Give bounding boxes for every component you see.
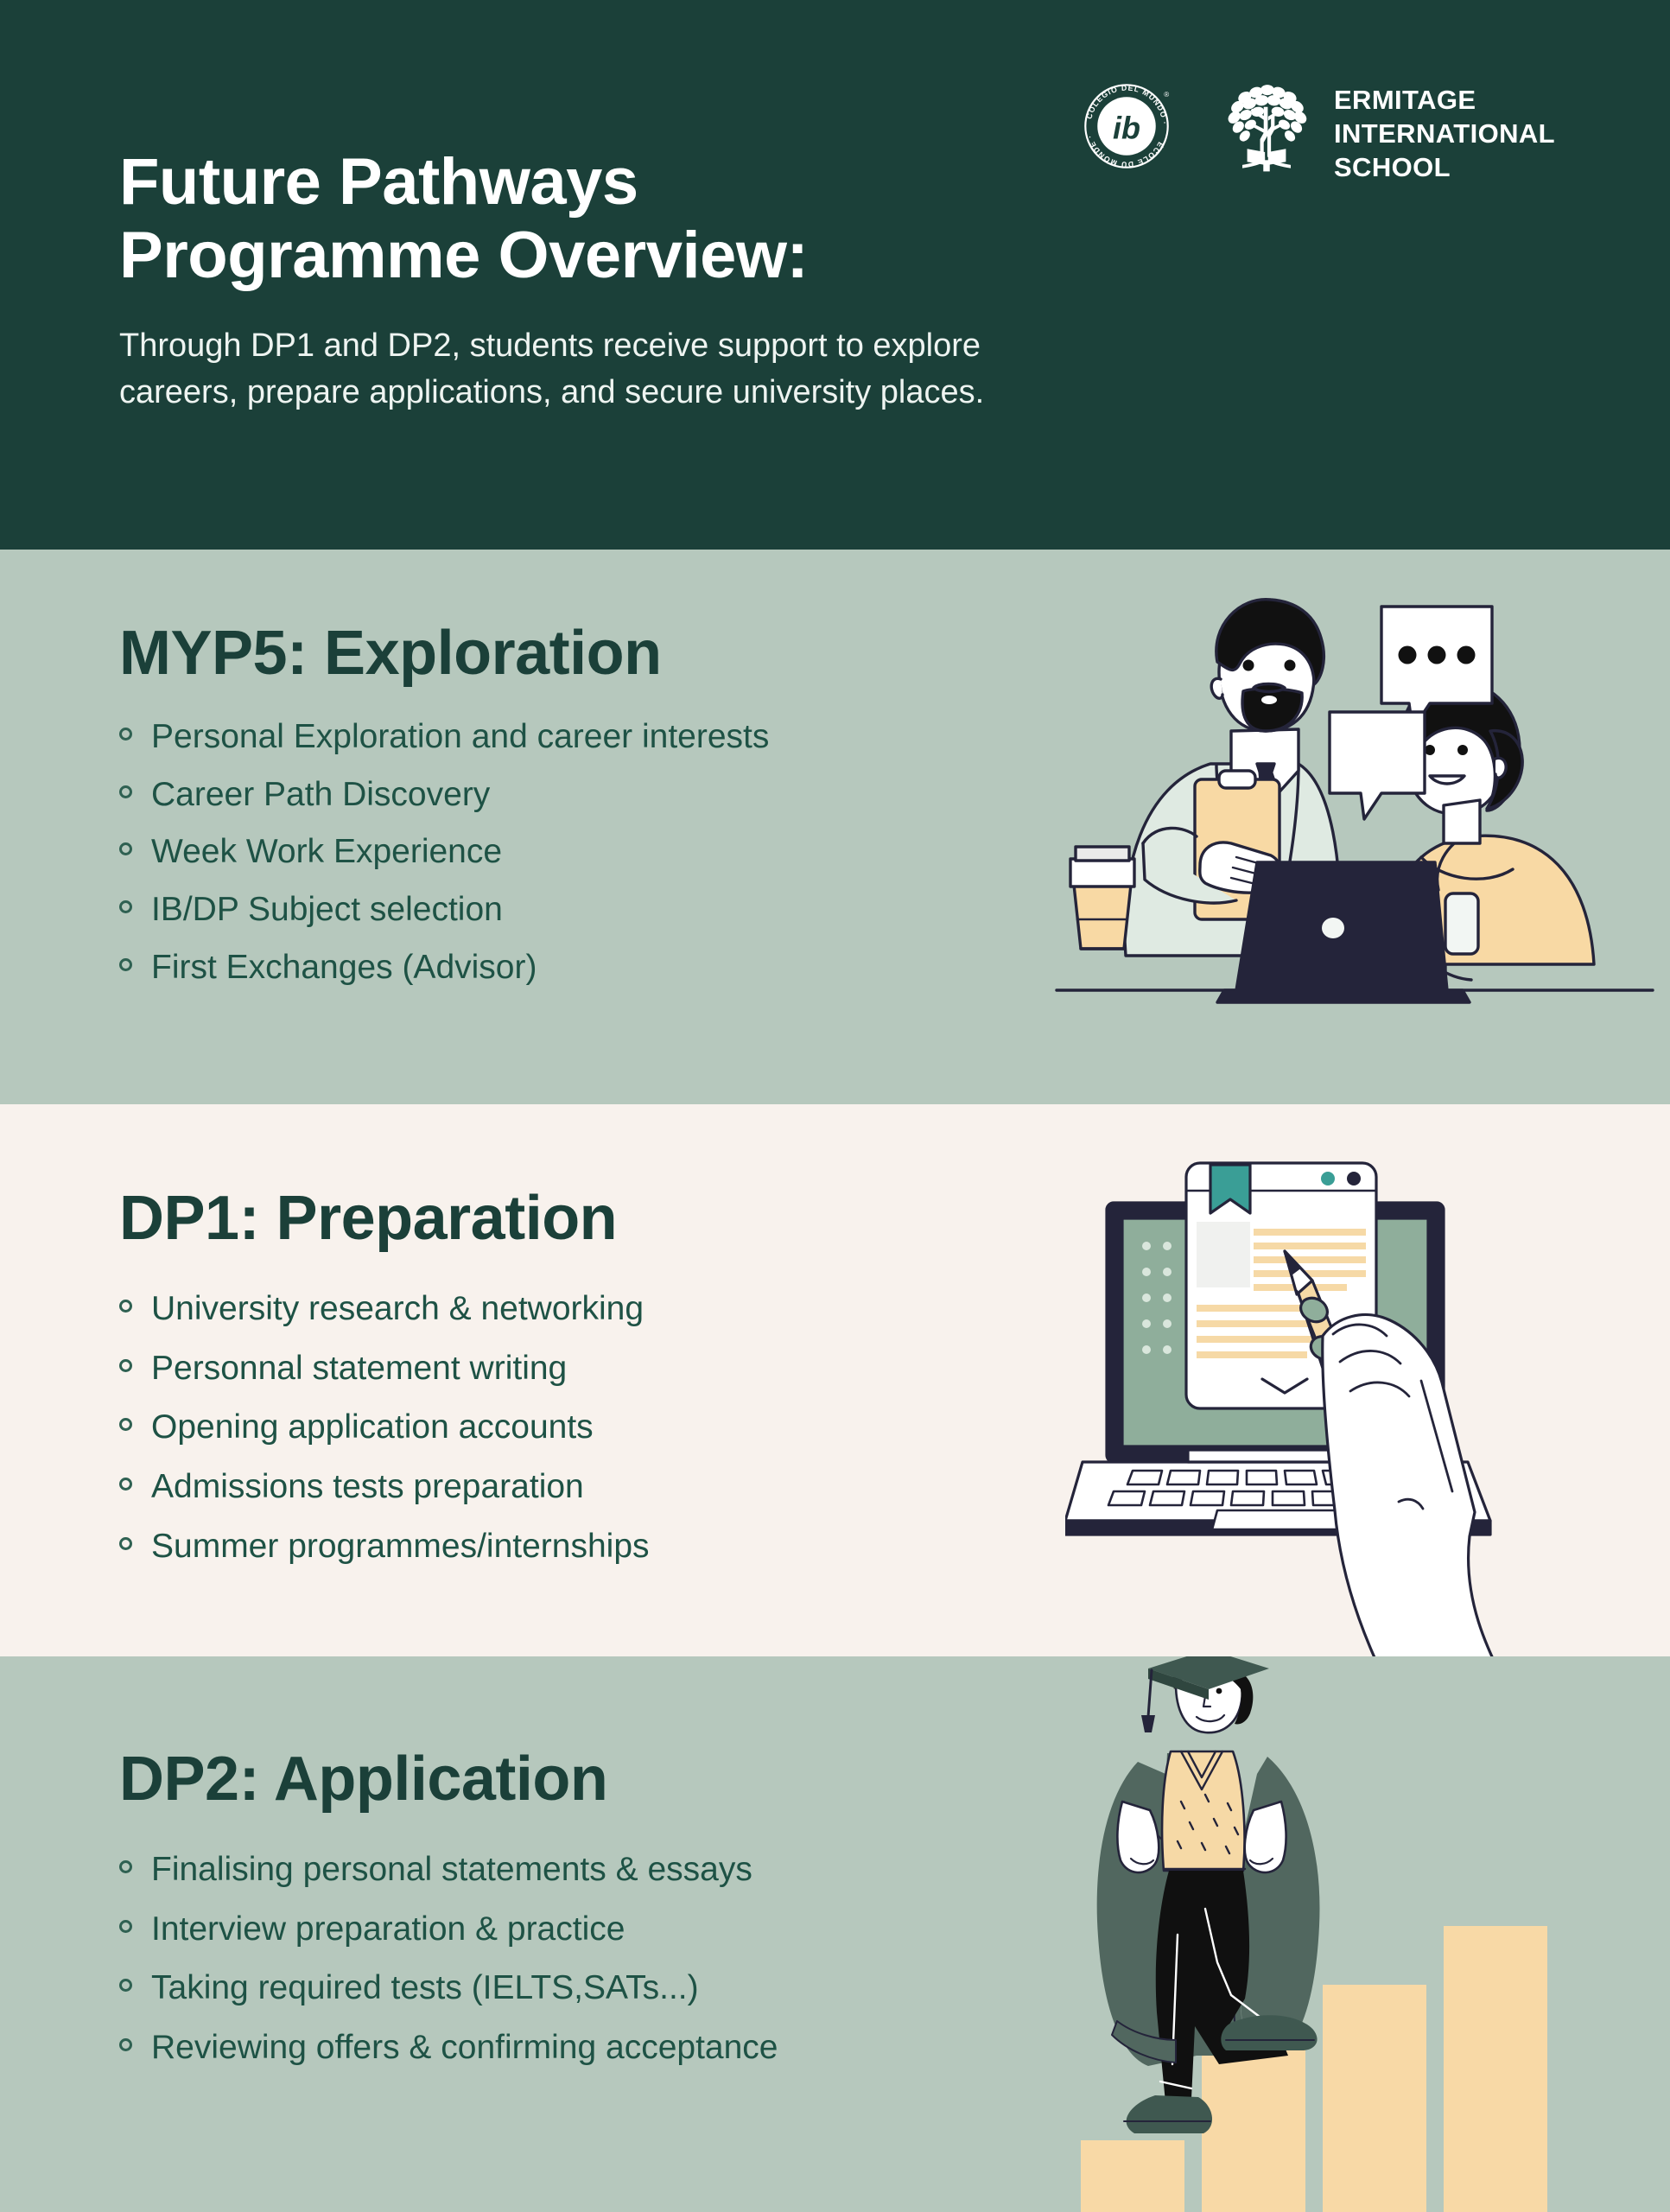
school-name-line-1: ERMITAGE bbox=[1334, 83, 1555, 117]
bullet-circle-icon bbox=[119, 1359, 132, 1372]
list-item: Week Work Experience bbox=[119, 834, 769, 870]
list-item: Finalising personal statements & essays bbox=[119, 1852, 778, 1888]
section-myp5: MYP5: Exploration Personal Exploration a… bbox=[0, 550, 1670, 1104]
page-subtitle: Through DP1 and DP2, students receive su… bbox=[119, 323, 1087, 416]
list-item-label: Summer programmes/internships bbox=[151, 1529, 650, 1565]
bullet-circle-icon bbox=[119, 1478, 132, 1491]
list-item-label: First Exchanges (Advisor) bbox=[151, 950, 537, 986]
svg-text:ib: ib bbox=[1113, 110, 1140, 145]
list-item-label: Personnal statement writing bbox=[151, 1351, 567, 1387]
ib-world-school-icon: COLEGIO DEL MUNDO · WORLD SCHOOL · ÉCOLE… bbox=[1080, 79, 1173, 173]
list-item-label: Finalising personal statements & essays bbox=[151, 1852, 752, 1888]
advisor-and-student-with-laptop-illustration bbox=[1039, 558, 1670, 1104]
header-banner: Future Pathways Programme Overview: Thro… bbox=[0, 0, 1670, 550]
logo-group: COLEGIO DEL MUNDO · WORLD SCHOOL · ÉCOLE… bbox=[1080, 79, 1555, 184]
section-dp1: DP1: Preparation University research & n… bbox=[0, 1104, 1670, 1656]
section-title-dp2: DP2: Application bbox=[119, 1748, 778, 1810]
svg-text:®: ® bbox=[1164, 91, 1169, 99]
bullet-circle-icon bbox=[119, 785, 132, 798]
section-title-dp1: DP1: Preparation bbox=[119, 1187, 650, 1249]
school-name-line-3: SCHOOL bbox=[1334, 150, 1555, 184]
bullet-circle-icon bbox=[119, 958, 132, 971]
list-item: Interview preparation & practice bbox=[119, 1911, 778, 1948]
bullet-circle-icon bbox=[119, 1537, 132, 1550]
bullet-circle-icon bbox=[119, 1300, 132, 1313]
bullet-circle-icon bbox=[119, 1920, 132, 1933]
graduate-climbing-bar-chart-illustration bbox=[1074, 1656, 1670, 2212]
infographic-poster: Future Pathways Programme Overview: Thro… bbox=[0, 0, 1670, 2212]
list-item-label: University research & networking bbox=[151, 1291, 644, 1327]
header-text-block: Future Pathways Programme Overview: Thro… bbox=[119, 145, 1087, 416]
list-item-label: Personal Exploration and career interest… bbox=[151, 719, 769, 755]
page-subtitle-line-2: careers, prepare applications, and secur… bbox=[119, 370, 1087, 416]
list-item-label: Taking required tests (IELTS,SATs...) bbox=[151, 1970, 699, 2006]
dp1-bullet-list: University research & networking Personn… bbox=[119, 1291, 650, 1565]
myp5-bullet-list: Personal Exploration and career interest… bbox=[119, 719, 769, 986]
list-item: First Exchanges (Advisor) bbox=[119, 950, 769, 986]
bullet-circle-icon bbox=[119, 900, 132, 913]
bullet-circle-icon bbox=[119, 1418, 132, 1431]
list-item: University research & networking bbox=[119, 1291, 650, 1327]
school-logo: ERMITAGE INTERNATIONAL SCHOOL bbox=[1218, 79, 1555, 184]
list-item: Summer programmes/internships bbox=[119, 1529, 650, 1565]
bullet-circle-icon bbox=[119, 1979, 132, 1992]
list-item-label: Opening application accounts bbox=[151, 1409, 594, 1446]
list-item-label: Week Work Experience bbox=[151, 834, 502, 870]
page-title-line-2: Programme Overview: bbox=[119, 219, 1087, 292]
list-item-label: Reviewing offers & confirming acceptance bbox=[151, 2030, 778, 2066]
bullet-circle-icon bbox=[119, 1860, 132, 1873]
list-item: Admissions tests preparation bbox=[119, 1469, 650, 1505]
list-item: Career Path Discovery bbox=[119, 777, 769, 813]
myp5-text-block: MYP5: Exploration Personal Exploration a… bbox=[119, 622, 769, 1007]
page-subtitle-line-1: Through DP1 and DP2, students receive su… bbox=[119, 323, 1087, 370]
list-item-label: Admissions tests preparation bbox=[151, 1469, 584, 1505]
list-item: Taking required tests (IELTS,SATs...) bbox=[119, 1970, 778, 2006]
school-name: ERMITAGE INTERNATIONAL SCHOOL bbox=[1334, 79, 1555, 184]
bullet-circle-icon bbox=[119, 842, 132, 855]
list-item-label: Career Path Discovery bbox=[151, 777, 490, 813]
school-name-line-2: INTERNATIONAL bbox=[1334, 117, 1555, 150]
list-item: IB/DP Subject selection bbox=[119, 892, 769, 928]
dp2-bullet-list: Finalising personal statements & essays … bbox=[119, 1852, 778, 2066]
dp2-text-block: DP2: Application Finalising personal sta… bbox=[119, 1748, 778, 2089]
tree-icon bbox=[1218, 79, 1315, 176]
list-item: Opening application accounts bbox=[119, 1409, 650, 1446]
bullet-circle-icon bbox=[119, 2038, 132, 2051]
dp1-text-block: DP1: Preparation University research & n… bbox=[119, 1187, 650, 1588]
list-item: Personnal statement writing bbox=[119, 1351, 650, 1387]
list-item-label: IB/DP Subject selection bbox=[151, 892, 503, 928]
section-title-myp5: MYP5: Exploration bbox=[119, 622, 769, 684]
hand-with-pencil-over-laptop-illustration bbox=[1065, 1130, 1670, 1656]
page-title-line-1: Future Pathways bbox=[119, 145, 1087, 219]
list-item-label: Interview preparation & practice bbox=[151, 1911, 625, 1948]
section-dp2: DP2: Application Finalising personal sta… bbox=[0, 1656, 1670, 2212]
bullet-circle-icon bbox=[119, 728, 132, 741]
page-title: Future Pathways Programme Overview: bbox=[119, 145, 1087, 292]
list-item: Reviewing offers & confirming acceptance bbox=[119, 2030, 778, 2066]
list-item: Personal Exploration and career interest… bbox=[119, 719, 769, 755]
